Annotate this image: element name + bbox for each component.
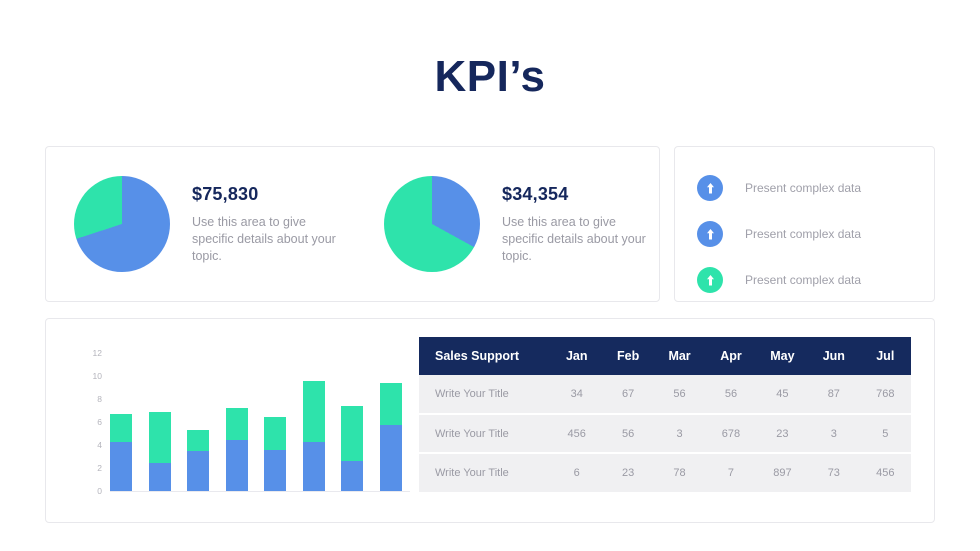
bar-stack [380, 383, 402, 491]
table-cell: 768 [860, 375, 911, 414]
bar-segment-green [187, 430, 209, 451]
bar-segment-green [226, 408, 248, 440]
bar-segment-green [341, 406, 363, 460]
table-body: Write Your Title346756564587768Write You… [419, 375, 911, 492]
table-cell: 67 [602, 375, 653, 414]
highlight-row[interactable]: Present complex data [697, 261, 920, 299]
table-header-row: Sales SupportJanFebMarAprMayJunJul [419, 337, 911, 375]
table-cell: 5 [860, 414, 911, 453]
table-cell: 678 [705, 414, 756, 453]
bar-chart-baseline [110, 491, 410, 492]
kpi-item-1: $75,830 Use this area to give specific d… [74, 147, 342, 301]
bar-stack [149, 412, 171, 491]
y-axis-tick: 4 [82, 440, 102, 450]
table-cell: 6 [551, 453, 602, 492]
table-header-month: Mar [654, 337, 705, 375]
highlights-card: Present complex dataPresent complex data… [674, 146, 935, 302]
table-cell: 456 [860, 453, 911, 492]
highlight-label: Present complex data [745, 181, 861, 195]
chart-table-card: 121086420 Sales SupportJanFebMarAprMayJu… [45, 318, 935, 523]
table-cell: 45 [757, 375, 808, 414]
slide-root: KPI’s $75,830 Use this area to give spec… [0, 0, 980, 551]
highlight-label: Present complex data [745, 273, 861, 287]
bar-chart: 121086420 [66, 339, 411, 509]
sales-support-table: Sales SupportJanFebMarAprMayJunJul Write… [419, 337, 911, 492]
table-cell: 3 [654, 414, 705, 453]
bar-segment-blue [187, 451, 209, 491]
highlight-row[interactable]: Present complex data [697, 215, 920, 253]
kpi-value-2: $34,354 [502, 184, 652, 205]
y-axis-tick: 6 [82, 417, 102, 427]
highlight-label: Present complex data [745, 227, 861, 241]
kpi-description-2: Use this area to give specific details a… [502, 214, 652, 265]
kpi-description-1: Use this area to give specific details a… [192, 214, 342, 265]
bar-stack [264, 417, 286, 491]
bar-segment-green [380, 383, 402, 424]
y-axis-tick: 2 [82, 463, 102, 473]
kpi-text-1: $75,830 Use this area to give specific d… [192, 184, 342, 265]
table-cell: 3 [808, 414, 859, 453]
table-row-label: Write Your Title [419, 375, 551, 414]
bar-chart-plot [110, 353, 402, 491]
table-header-label: Sales Support [419, 337, 551, 375]
table-head: Sales SupportJanFebMarAprMayJunJul [419, 337, 911, 375]
bar-stack [341, 406, 363, 491]
highlight-row[interactable]: Present complex data [697, 169, 920, 207]
bar-segment-blue [110, 442, 132, 491]
arrow-up-icon [697, 175, 723, 201]
bar-stack [110, 414, 132, 491]
bar-segment-blue [341, 461, 363, 491]
table-cell: 56 [654, 375, 705, 414]
table-header-month: May [757, 337, 808, 375]
bar-stack [187, 430, 209, 491]
table-row[interactable]: Write Your Title62378789773456 [419, 453, 911, 492]
y-axis-tick: 0 [82, 486, 102, 496]
bar-segment-green [303, 381, 325, 443]
table-cell: 34 [551, 375, 602, 414]
table-cell: 7 [705, 453, 756, 492]
highlights-list: Present complex dataPresent complex data… [697, 169, 920, 307]
table-header-month: Feb [602, 337, 653, 375]
pie-chart-2 [384, 176, 480, 272]
table-cell: 73 [808, 453, 859, 492]
table-row-label: Write Your Title [419, 414, 551, 453]
table-header-month: Jan [551, 337, 602, 375]
table-header-month: Apr [705, 337, 756, 375]
bar-segment-blue [149, 463, 171, 491]
table-header-month: Jun [808, 337, 859, 375]
table-cell: 23 [602, 453, 653, 492]
table-cell: 23 [757, 414, 808, 453]
bar-segment-green [110, 414, 132, 442]
y-axis-tick: 12 [82, 348, 102, 358]
bar-segment-blue [303, 442, 325, 491]
bar-stack [226, 408, 248, 491]
arrow-up-icon [697, 221, 723, 247]
table-cell: 56 [705, 375, 756, 414]
pie-chart-1 [74, 176, 170, 272]
kpi-item-2: $34,354 Use this area to give specific d… [384, 147, 652, 301]
page-title: KPI’s [0, 52, 980, 102]
bar-chart-y-axis: 121086420 [76, 353, 102, 491]
kpi-value-1: $75,830 [192, 184, 342, 205]
table-header-month: Jul [860, 337, 911, 375]
bar-segment-blue [226, 440, 248, 491]
kpi-card: $75,830 Use this area to give specific d… [45, 146, 660, 302]
table-cell: 897 [757, 453, 808, 492]
table-row-label: Write Your Title [419, 453, 551, 492]
table-cell: 78 [654, 453, 705, 492]
arrow-up-icon [697, 267, 723, 293]
bar-segment-green [149, 412, 171, 463]
bar-segment-blue [380, 425, 402, 491]
y-axis-tick: 10 [82, 371, 102, 381]
table-cell: 56 [602, 414, 653, 453]
bar-segment-blue [264, 450, 286, 491]
table-row[interactable]: Write Your Title346756564587768 [419, 375, 911, 414]
data-table: Sales SupportJanFebMarAprMayJunJul Write… [419, 337, 911, 492]
y-axis-tick: 8 [82, 394, 102, 404]
table-row[interactable]: Write Your Title4565636782335 [419, 414, 911, 453]
table-cell: 87 [808, 375, 859, 414]
bar-segment-green [264, 417, 286, 449]
bar-stack [303, 381, 325, 491]
table-cell: 456 [551, 414, 602, 453]
kpi-text-2: $34,354 Use this area to give specific d… [502, 184, 652, 265]
